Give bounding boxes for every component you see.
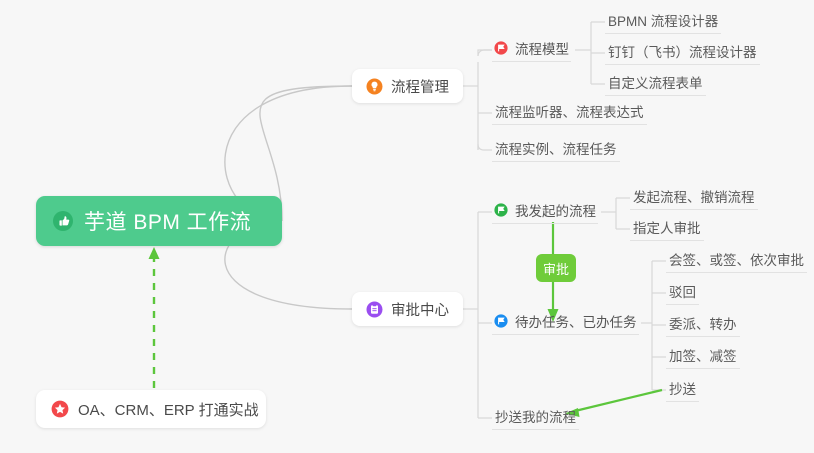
wire-pm-to-model-2 — [478, 50, 492, 56]
leaf-label: 抄送 — [669, 378, 696, 398]
leaf-label: 自定义流程表单 — [608, 72, 703, 92]
leaf-label: 抄送我的流程 — [495, 406, 576, 426]
leaf-node-reject[interactable]: 驳回 — [666, 281, 699, 305]
root-node[interactable]: 芋道 BPM 工作流 — [36, 196, 282, 246]
cc-arrow-line — [575, 390, 662, 411]
sub-node-label: 待办任务、已办任务 — [515, 311, 637, 331]
flag-icon — [494, 41, 508, 55]
callout-label: OA、CRM、ERP 打通实战 — [78, 399, 259, 420]
dashed-arrow-head — [149, 247, 160, 259]
leaf-node-custom-form[interactable]: 自定义流程表单 — [605, 72, 706, 96]
leaf-node-bpmn-designer[interactable]: BPMN 流程设计器 — [605, 10, 721, 34]
clipboard-icon — [366, 301, 383, 318]
leaf-node-delegate[interactable]: 委派、转办 — [666, 313, 740, 337]
flag-icon — [494, 203, 508, 217]
leaf-node-start-cancel[interactable]: 发起流程、撤销流程 — [630, 186, 758, 210]
leaf-label: 指定人审批 — [633, 217, 701, 237]
mindmap-canvas: 芋道 BPM 工作流 流程管理 审批中心 — [0, 0, 814, 453]
thumbs-up-icon — [52, 210, 74, 232]
leaf-node-dingtalk-designer[interactable]: 钉钉（飞书）流程设计器 — [605, 41, 760, 65]
leaf-label: 会签、或签、依次审批 — [669, 249, 804, 269]
leaf-node-cc-to-me[interactable]: 抄送我的流程 — [492, 406, 579, 430]
lightbulb-icon — [366, 78, 383, 95]
sub-node-label: 流程模型 — [515, 38, 569, 58]
leaf-node-cc[interactable]: 抄送 — [666, 378, 699, 402]
wire-pm-to-instance — [478, 144, 492, 150]
leaf-label: 委派、转办 — [669, 313, 737, 333]
flag-icon — [494, 314, 508, 328]
callout-card-integration[interactable]: OA、CRM、ERP 打通实战 — [36, 390, 266, 428]
leaf-label: 驳回 — [669, 281, 696, 301]
leaf-node-countersign[interactable]: 会签、或签、依次审批 — [666, 249, 807, 273]
sub-node-label: 我发起的流程 — [515, 200, 596, 220]
leaf-label: 流程监听器、流程表达式 — [495, 101, 644, 121]
leaf-label: 发起流程、撤销流程 — [633, 186, 755, 206]
branch-label: 流程管理 — [391, 76, 449, 97]
star-icon — [51, 400, 69, 418]
leaf-label: BPMN 流程设计器 — [608, 10, 718, 30]
leaf-node-add-remove-sign[interactable]: 加签、减签 — [666, 345, 740, 369]
leaf-label: 钉钉（飞书）流程设计器 — [608, 41, 757, 61]
branch-label: 审批中心 — [391, 299, 449, 320]
leaf-label: 加签、减签 — [669, 345, 737, 365]
leaf-label: 流程实例、流程任务 — [495, 138, 617, 158]
branch-card-approval-center[interactable]: 审批中心 — [352, 292, 463, 326]
wire-pm-to-model — [478, 50, 492, 56]
annotation-badge-approval: 审批 — [536, 254, 576, 282]
sub-node-my-processes[interactable]: 我发起的流程 — [492, 200, 598, 224]
sub-node-todo-tasks[interactable]: 待办任务、已办任务 — [492, 311, 639, 335]
annotation-badge-label: 审批 — [543, 259, 569, 278]
sub-node-process-model[interactable]: 流程模型 — [492, 38, 571, 62]
root-label: 芋道 BPM 工作流 — [84, 206, 251, 236]
leaf-node-assignee-approval[interactable]: 指定人审批 — [630, 217, 704, 241]
leaf-node-instance[interactable]: 流程实例、流程任务 — [492, 138, 620, 162]
leaf-node-listener[interactable]: 流程监听器、流程表达式 — [492, 101, 647, 125]
branch-card-process-management[interactable]: 流程管理 — [352, 69, 463, 103]
